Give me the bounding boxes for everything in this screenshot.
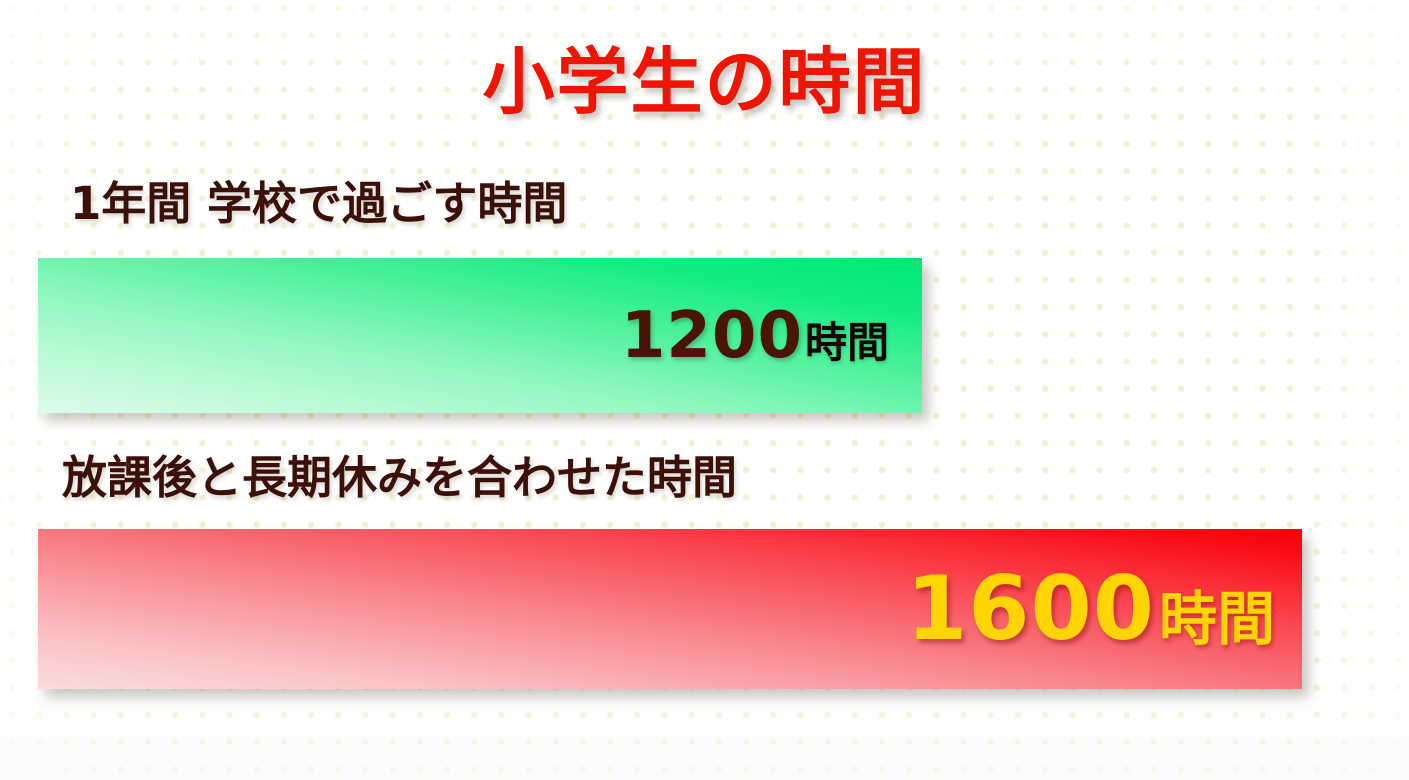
bar-school: 1200 時間 bbox=[38, 258, 922, 413]
bar-value-outside: 1600 時間 bbox=[906, 565, 1302, 653]
bar-outside: 1600 時間 bbox=[38, 529, 1302, 689]
bar-label-school: 1年間 学校で過ごす時間 bbox=[70, 181, 567, 226]
page-title: 小学生の時間 bbox=[0, 46, 1409, 118]
bar-value-school-number: 1200 bbox=[621, 304, 803, 368]
bar-value-outside-number: 1600 bbox=[906, 565, 1155, 653]
bar-value-school-unit: 時間 bbox=[805, 322, 889, 364]
bar-value-outside-unit: 時間 bbox=[1159, 590, 1275, 648]
bar-value-school: 1200 時間 bbox=[621, 304, 922, 368]
bar-label-outside: 放課後と長期休みを合わせた時間 bbox=[62, 455, 737, 500]
slide-canvas: 小学生の時間 1年間 学校で過ごす時間 1200 時間 放課後と長期休みを合わせ… bbox=[0, 0, 1409, 780]
